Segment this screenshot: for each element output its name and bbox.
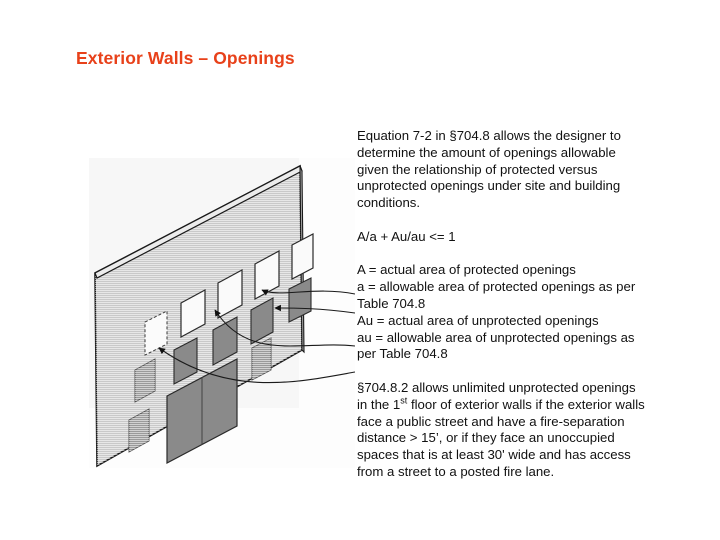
definition-au: au = allowable area of unprotected openi… [357,330,649,364]
paragraph-unlimited-openings: §704.8.2 allows unlimited unprotected op… [357,380,649,481]
spacer [357,246,649,263]
spacer [357,363,649,380]
equation-line: A/a + Au/au <= 1 [357,229,649,246]
definition-Au: Au = actual area of unprotected openings [357,313,649,330]
paragraph-equation-intro: Equation 7-2 in §704.8 allows the design… [357,128,649,212]
page-title: Exterior Walls – Openings [76,48,636,69]
wall-isometric-svg [89,158,355,468]
slide-canvas: Exterior Walls – Openings [0,0,720,540]
exterior-wall-openings-figure [89,158,355,468]
definition-A: A = actual area of protected openings [357,262,649,279]
spacer [357,212,649,229]
body-text-column: Equation 7-2 in §704.8 allows the design… [357,128,649,481]
definition-a: a = allowable area of protected openings… [357,279,649,313]
